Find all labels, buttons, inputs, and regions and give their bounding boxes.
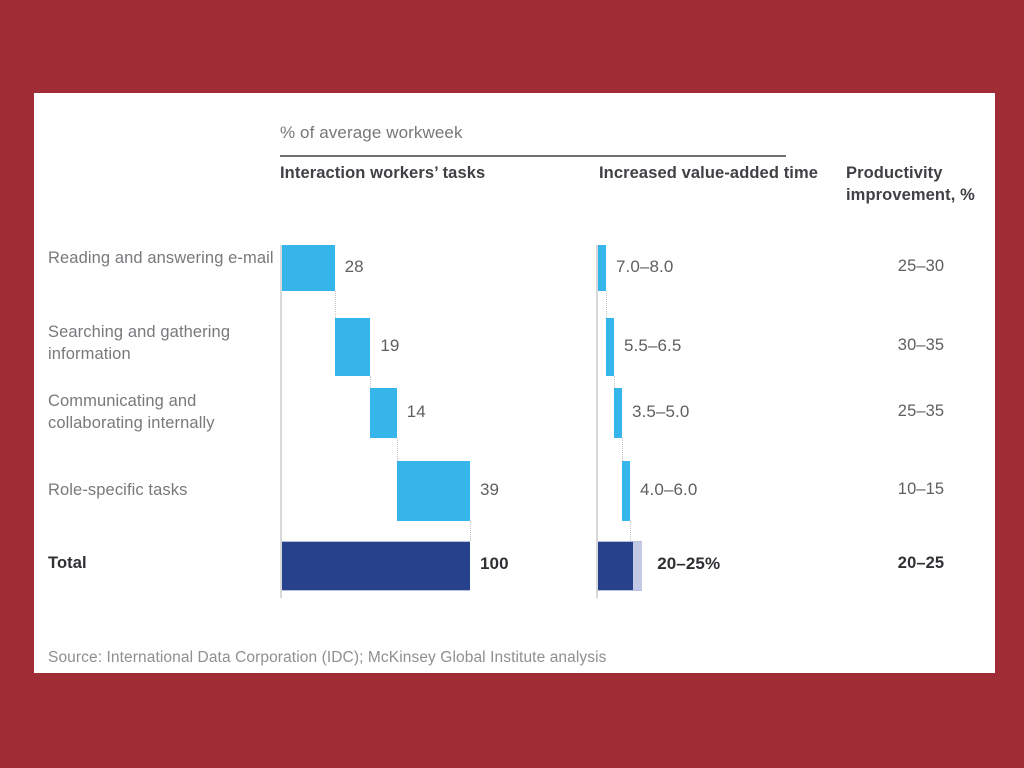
bar-total-tasks (282, 541, 470, 591)
waterfall-connector (397, 438, 398, 461)
row-label: Role-specific tasks (48, 480, 276, 502)
value-label-total-value-added: 20–25% (657, 554, 720, 574)
value-label-tasks: 39 (480, 480, 499, 500)
bar-tasks (335, 318, 371, 376)
column-header-value-added: Increased value-added time (599, 163, 819, 185)
chart-kicker: % of average workweek (280, 123, 463, 143)
bar-value-added (606, 318, 614, 376)
bar-tasks (370, 388, 396, 438)
column-header-productivity: Productivity improvement, % (846, 163, 995, 207)
waterfall-connector (606, 291, 607, 318)
bar-value-added (614, 388, 622, 438)
chart-card: % of average workweek Interaction worker… (34, 93, 995, 673)
value-label-value-added: 3.5–5.0 (632, 402, 689, 422)
waterfall-connector (335, 291, 336, 318)
waterfall-connector (622, 438, 623, 461)
value-label-value-added: 5.5–6.5 (624, 336, 681, 356)
value-label-value-added: 4.0–6.0 (640, 480, 697, 500)
waterfall-connector (370, 376, 371, 388)
waterfall-connector (470, 521, 471, 541)
bar-tasks (282, 245, 335, 291)
row-label: Searching and gathering information (48, 322, 276, 366)
waterfall-connector (614, 376, 615, 388)
row-label: Communicating and collaborating internal… (48, 391, 276, 435)
row-label-total: Total (48, 553, 276, 575)
waterfall-chart-tasks: 28191439100 (280, 245, 480, 598)
waterfall-chart-value-added: 7.0–8.05.5–6.53.5–5.04.0–6.020–25% (596, 245, 644, 598)
value-label-value-added: 7.0–8.0 (616, 257, 673, 277)
bar-total-value-added (598, 541, 633, 591)
productivity-value: 10–15 (846, 480, 995, 499)
row-label: Reading and answering e-mail (48, 248, 276, 270)
bar-value-added (622, 461, 630, 521)
productivity-value: 25–35 (846, 402, 995, 421)
waterfall-connector (630, 521, 631, 541)
productivity-value-total: 20–25 (846, 554, 995, 573)
value-label-tasks: 28 (345, 257, 364, 277)
value-label-total-tasks: 100 (480, 554, 509, 574)
bar-value-added (598, 245, 606, 291)
value-label-tasks: 19 (380, 336, 399, 356)
source-note: Source: International Data Corporation (… (48, 649, 607, 667)
bar-tasks (397, 461, 470, 521)
productivity-value: 25–30 (846, 257, 995, 276)
bar-total-value-added-range-extension (633, 541, 642, 591)
productivity-value: 30–35 (846, 336, 995, 355)
header-divider (280, 155, 786, 157)
value-label-tasks: 14 (407, 402, 426, 422)
column-header-tasks: Interaction workers’ tasks (280, 163, 530, 185)
